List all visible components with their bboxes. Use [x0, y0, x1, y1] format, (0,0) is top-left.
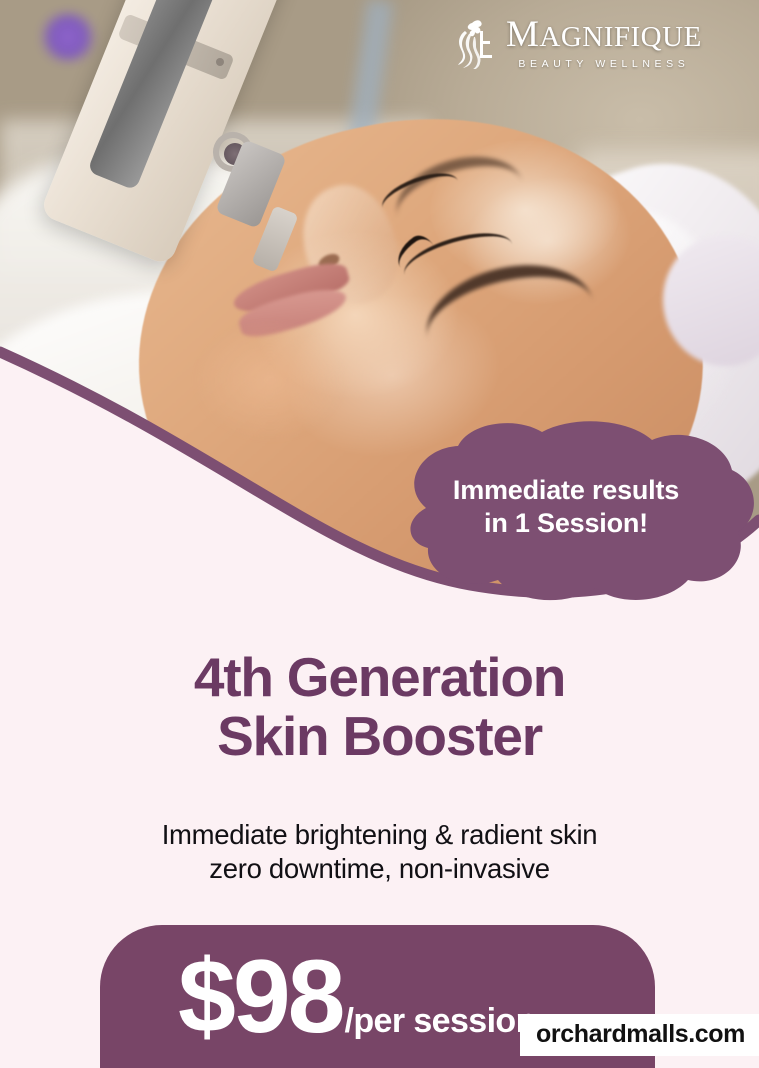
- page-title: 4th Generation Skin Booster: [0, 648, 759, 767]
- logo-tagline: BEAUTY WELLNESS: [518, 58, 689, 70]
- badge-line-1: Immediate results: [453, 475, 679, 505]
- woman-with-flowing-hair-emblem-icon: [452, 17, 498, 69]
- subtitle-line-2: zero downtime, non-invasive: [0, 852, 759, 886]
- logo-text-block: MAGNIFIQUE BEAUTY WELLNESS: [506, 16, 702, 70]
- logo-name-rest: AGNIFIQUE: [539, 21, 701, 53]
- device-indicator-light: [38, 12, 98, 62]
- price-row: $98 /per session: [178, 945, 536, 1049]
- headline-line-1: 4th Generation: [194, 646, 565, 708]
- logo-name-initial: M: [506, 14, 539, 55]
- headline-line-2: Skin Booster: [0, 707, 759, 766]
- subtitle-line-1: Immediate brightening & radient skin: [162, 819, 598, 850]
- watermark: orchardmalls.com: [520, 1014, 759, 1056]
- chin: [195, 320, 345, 440]
- subtitle: Immediate brightening & radient skin zer…: [0, 818, 759, 886]
- brand-logo: MAGNIFIQUE BEAUTY WELLNESS: [452, 6, 752, 80]
- price-unit: /per session: [345, 1002, 536, 1041]
- promotional-poster: MAGNIFIQUE BEAUTY WELLNESS Immediate res…: [0, 0, 759, 1068]
- badge-text: Immediate results in 1 Session!: [390, 474, 742, 540]
- promo-badge: Immediate results in 1 Session!: [366, 412, 759, 612]
- price-amount: $98: [178, 945, 343, 1049]
- device-dot: [216, 58, 224, 66]
- badge-line-2: in 1 Session!: [484, 508, 648, 538]
- logo-name: MAGNIFIQUE: [506, 16, 702, 53]
